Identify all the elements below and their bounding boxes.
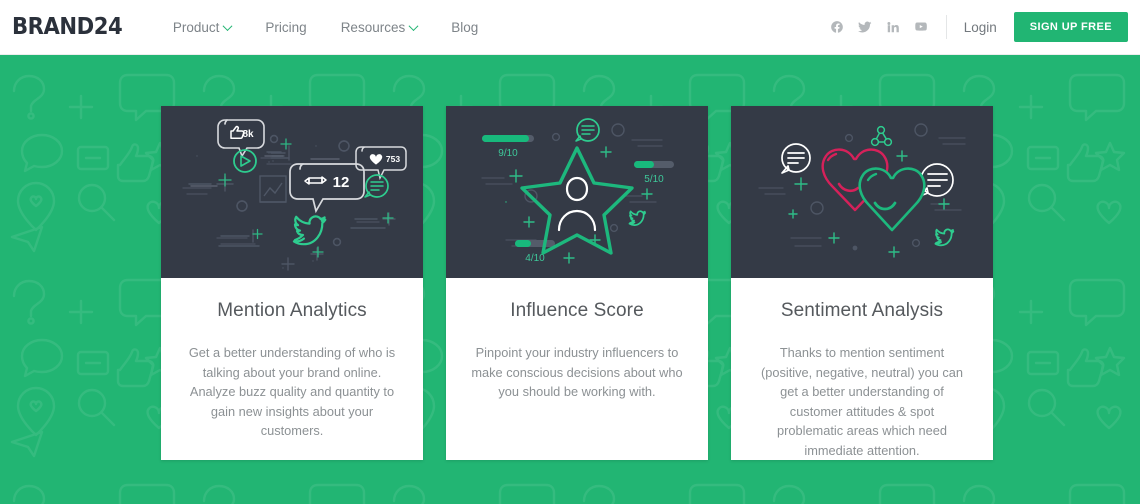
linkedin-icon[interactable] xyxy=(886,20,901,35)
sentiment-analysis-illustration xyxy=(731,106,993,278)
card-title: Mention Analytics xyxy=(183,300,401,322)
nav-item-product[interactable]: Product xyxy=(156,20,249,35)
card-body: Mention Analytics Get a better understan… xyxy=(161,278,423,441)
nav-label: Resources xyxy=(341,20,406,35)
nav-label: Blog xyxy=(451,20,478,35)
nav-item-resources[interactable]: Resources xyxy=(324,20,435,35)
mention-analytics-illustration: 8k 12 xyxy=(161,106,423,278)
card-title: Influence Score xyxy=(468,300,686,322)
chevron-down-icon xyxy=(409,21,419,31)
card-title: Sentiment Analysis xyxy=(753,300,971,322)
card-body: Sentiment Analysis Thanks to mention sen… xyxy=(731,278,993,460)
svg-text:12: 12 xyxy=(333,174,350,191)
nav-item-pricing[interactable]: Pricing xyxy=(248,20,323,35)
nav-label: Product xyxy=(173,20,220,35)
brand-logo[interactable]: BRAND24 xyxy=(12,14,122,40)
chevron-down-icon xyxy=(223,21,233,31)
site-header: BRAND24 Product Pricing Resources Blog xyxy=(0,0,1140,55)
svg-text:753: 753 xyxy=(386,154,400,164)
svg-text:5/10: 5/10 xyxy=(644,174,664,185)
header-divider xyxy=(946,15,947,39)
svg-text:4/10: 4/10 xyxy=(525,253,545,264)
facebook-icon[interactable] xyxy=(830,20,845,35)
nav-item-blog[interactable]: Blog xyxy=(434,20,495,35)
login-link[interactable]: Login xyxy=(964,20,997,35)
card-description: Get a better understanding of who is tal… xyxy=(183,343,401,441)
social-links xyxy=(830,20,929,35)
card-description: Pinpoint your industry influencers to ma… xyxy=(468,343,686,402)
svg-text:9/10: 9/10 xyxy=(498,148,518,159)
signup-free-button[interactable]: SIGN UP FREE xyxy=(1014,12,1128,42)
hero-section: 8k 12 xyxy=(0,55,1140,504)
feature-cards: 8k 12 xyxy=(161,106,993,460)
svg-text:8k: 8k xyxy=(242,129,254,140)
card-description: Thanks to mention sentiment (positive, n… xyxy=(753,343,971,460)
header-right-group: Login SIGN UP FREE xyxy=(830,12,1140,42)
twitter-icon[interactable] xyxy=(858,20,873,35)
influence-score-illustration: 9/10 5/10 4/10 xyxy=(446,106,708,278)
card-body: Influence Score Pinpoint your industry i… xyxy=(446,278,708,402)
nav-label: Pricing xyxy=(265,20,306,35)
feature-card-influence-score[interactable]: 9/10 5/10 4/10 xyxy=(446,106,708,460)
feature-card-sentiment-analysis[interactable]: Sentiment Analysis Thanks to mention sen… xyxy=(731,106,993,460)
feature-card-mention-analytics[interactable]: 8k 12 xyxy=(161,106,423,460)
youtube-icon[interactable] xyxy=(914,20,929,35)
main-navigation: Product Pricing Resources Blog xyxy=(156,20,495,35)
